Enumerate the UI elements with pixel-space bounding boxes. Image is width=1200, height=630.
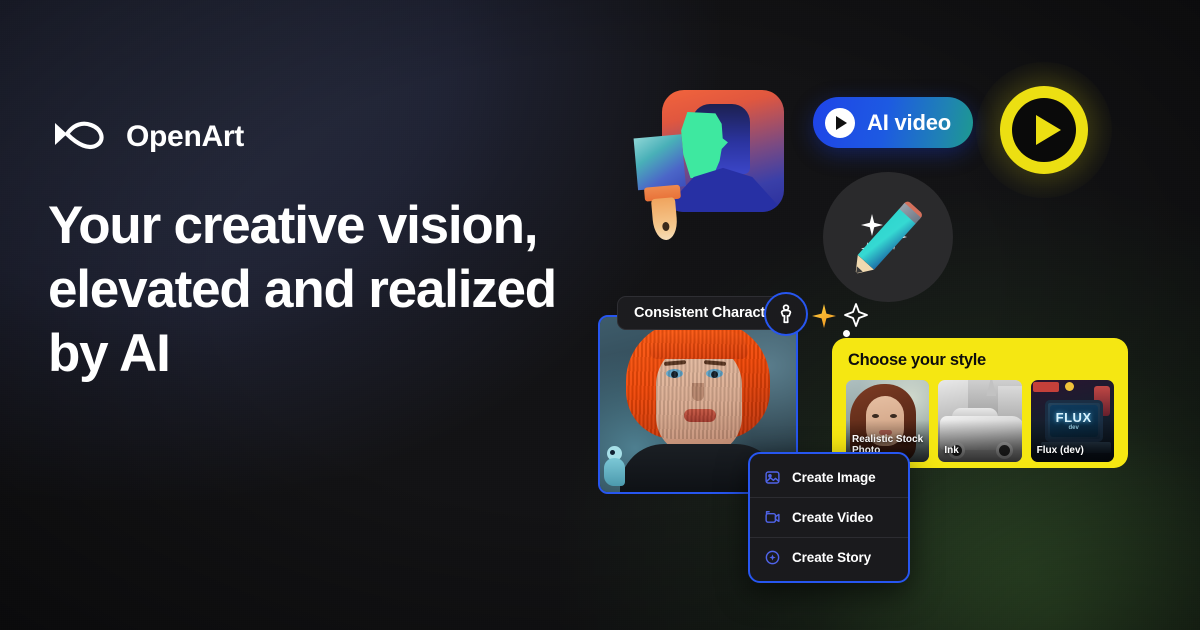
brush-bristles — [634, 134, 686, 190]
paintbrush — [630, 134, 699, 243]
style-thumb-label: Ink — [944, 445, 1017, 457]
pencil-body — [858, 209, 916, 270]
thumb3-neon-sign — [1033, 382, 1059, 392]
portrait-hair-strands — [626, 321, 770, 439]
openart-infinity-logo-icon — [50, 118, 112, 155]
style-thumb-label: Flux (dev) — [1037, 445, 1110, 457]
portrait-bird — [604, 446, 626, 486]
hero-banner: OpenArt Your creative vision, elevated a… — [0, 0, 1200, 630]
style-thumbnail-list: Realistic Stock Photo Ink — [846, 380, 1114, 462]
play-button-icon[interactable] — [1000, 86, 1088, 174]
sparkle-dot-icon — [843, 330, 850, 337]
menu-item-create-video[interactable]: Create Video — [750, 497, 908, 537]
image-icon — [764, 469, 781, 486]
menu-item-create-story[interactable]: Create Story — [750, 537, 908, 577]
choose-style-title: Choose your style — [848, 351, 1114, 370]
brand-name: OpenArt — [126, 120, 244, 154]
pencil-sparkle-icon — [823, 172, 953, 302]
four-point-star-outline-icon — [843, 302, 869, 328]
style-thumb-flux-dev[interactable]: FLUX dev Flux (dev) — [1031, 380, 1114, 462]
choose-style-card[interactable]: Choose your style Realistic Stock Photo — [832, 338, 1128, 468]
paintbrush-portrait-icon — [634, 90, 784, 240]
style-thumb-ink[interactable]: Ink — [938, 380, 1021, 462]
ai-video-badge[interactable]: AI video — [813, 97, 973, 148]
menu-item-label: Create Video — [792, 510, 873, 525]
pencil-icon — [848, 200, 923, 280]
story-icon — [764, 549, 781, 566]
ai-video-label: AI video — [867, 110, 951, 136]
create-context-menu[interactable]: Create Image Create Video Create Story — [748, 452, 910, 583]
video-icon — [764, 509, 781, 526]
thumb1-eye-left — [872, 414, 879, 418]
play-triangle-icon — [1036, 115, 1061, 145]
brush-handle — [651, 197, 679, 241]
bird-body — [604, 458, 625, 486]
style-thumb-realistic-stock-photo[interactable]: Realistic Stock Photo — [846, 380, 929, 462]
brand-logo[interactable]: OpenArt — [50, 118, 244, 155]
thumb1-eye-right — [890, 414, 897, 418]
menu-item-create-image[interactable]: Create Image — [750, 458, 908, 497]
consistent-character-text: Consistent Character — [634, 305, 779, 321]
play-icon — [825, 108, 855, 138]
menu-item-label: Create Image — [792, 470, 876, 485]
character-person-icon[interactable] — [764, 292, 808, 336]
thumb3-neon-lamp — [1065, 382, 1074, 391]
bird-eye — [610, 450, 615, 455]
page-title: Your creative vision, elevated and reali… — [48, 194, 608, 386]
menu-item-label: Create Story — [792, 550, 871, 565]
